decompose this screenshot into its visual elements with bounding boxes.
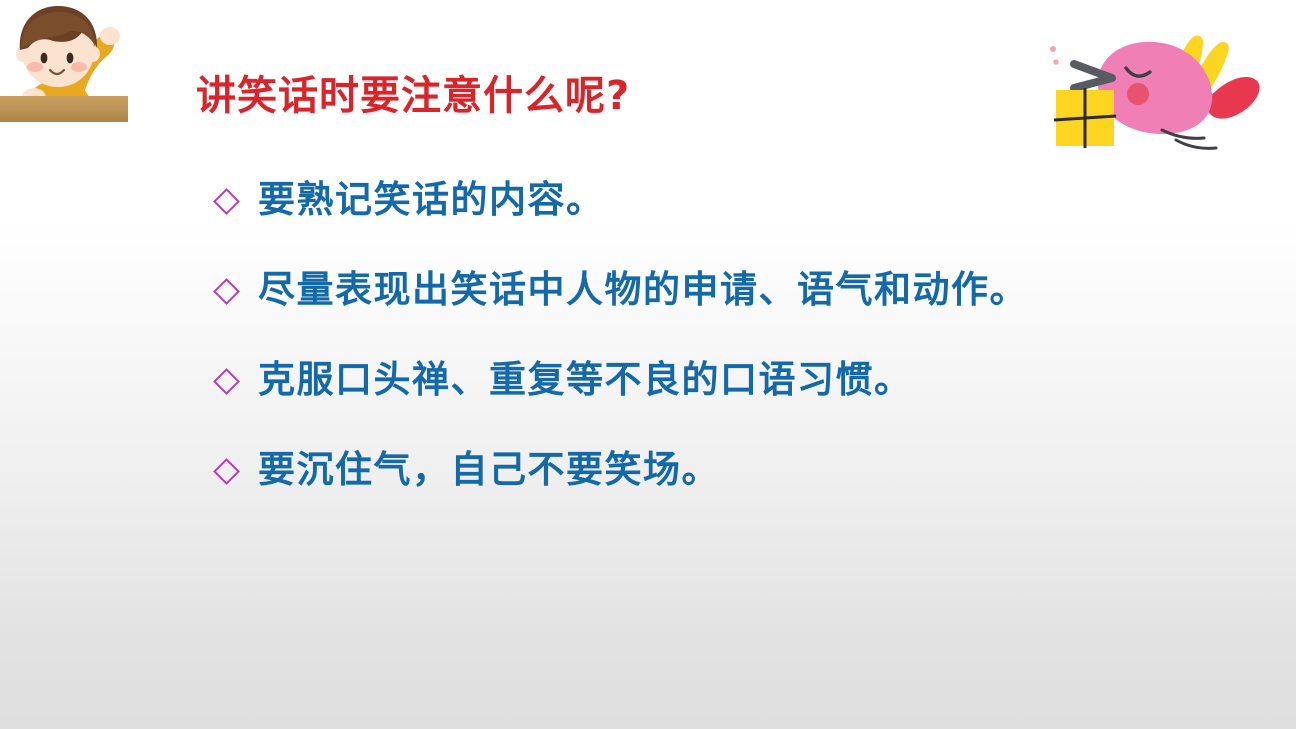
list-item-text: 尽量表现出笑话中人物的申请、语气和动作。: [258, 265, 1028, 313]
diamond-bullet-icon: [212, 457, 242, 487]
list-item: 要熟记笑话的内容。: [212, 175, 1242, 223]
list-item-text: 克服口头禅、重复等不良的口语习惯。: [258, 355, 913, 403]
slide-canvas: 讲笑话时要注意什么呢?: [0, 0, 1296, 729]
list-item-text: 要沉住气，自己不要笑场。: [258, 445, 720, 493]
bird-svg: [1034, 22, 1286, 162]
list-item-text: 要熟记笑话的内容。: [258, 175, 605, 223]
list-item: 要沉住气，自己不要笑场。: [212, 445, 1242, 493]
pink-bird-illustration: [1034, 22, 1286, 162]
list-item: 克服口头禅、重复等不良的口语习惯。: [212, 355, 1242, 403]
page-title: 讲笑话时要注意什么呢?: [196, 74, 630, 118]
diamond-bullet-icon: [212, 277, 242, 307]
diamond-bullet-icon: [212, 187, 242, 217]
diamond-bullet-icon: [212, 367, 242, 397]
cartoon-boy-illustration: [0, 0, 132, 124]
wooden-bar: [0, 96, 128, 122]
bullet-list: 要熟记笑话的内容。 尽量表现出笑话中人物的申请、语气和动作。 克服口头禅、重复等…: [212, 175, 1242, 493]
list-item: 尽量表现出笑话中人物的申请、语气和动作。: [212, 265, 1242, 313]
